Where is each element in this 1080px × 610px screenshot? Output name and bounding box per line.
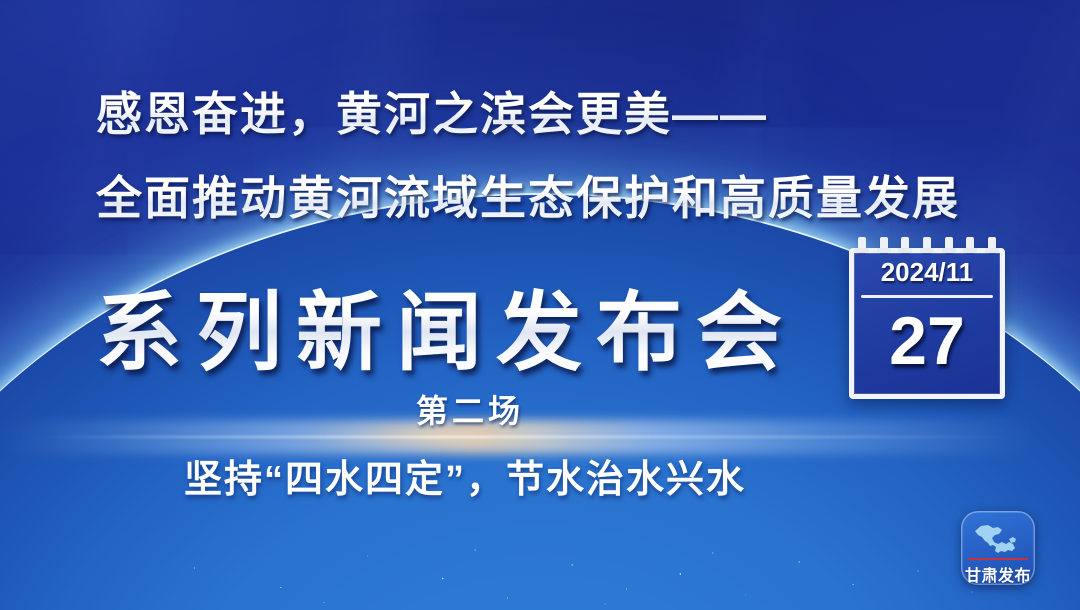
logo-label: 甘肃发布 [961,562,1035,585]
topic-row: 坚持“四水四定”，节水治水兴水 [0,448,1080,503]
calendar-rings [858,237,996,253]
calendar-ring-icon [966,237,974,253]
session-label: 第二场 [416,393,664,429]
page-title: 系列新闻发布会 [96,262,796,387]
calendar-month-label: 2024/11 [854,257,1000,288]
gansu-province-map-icon [969,518,1027,557]
poster-content: 感恩奋进，黄河之滨会更美—— 全面推动黄河流域生态保护和高质量发展 系列新闻发布… [0,0,1080,610]
calendar-ring-icon [901,237,909,253]
calendar-ring-icon [880,237,888,253]
topic-label: 坚持“四水四定”，节水治水兴水 [184,459,896,501]
calendar-day-label: 27 [854,301,1000,381]
headline-line-2: 全面推动黄河流域生态保护和高质量发展 [96,162,960,228]
calendar-ring-icon [923,237,931,253]
calendar-ring-icon [988,237,996,253]
calendar-ring-icon [858,237,866,253]
news-conference-poster: 感恩奋进，黄河之滨会更美—— 全面推动黄河流域生态保护和高质量发展 系列新闻发布… [0,0,1080,610]
calendar-ring-icon [945,237,953,253]
gansu-publish-logo[interactable]: 甘肃发布 [961,511,1035,585]
calendar-badge: 2024/11 27 [849,248,1005,399]
logo-divider [968,558,1028,560]
calendar-divider [861,295,993,298]
headline-line-1: 感恩奋进，黄河之滨会更美—— [96,78,768,144]
